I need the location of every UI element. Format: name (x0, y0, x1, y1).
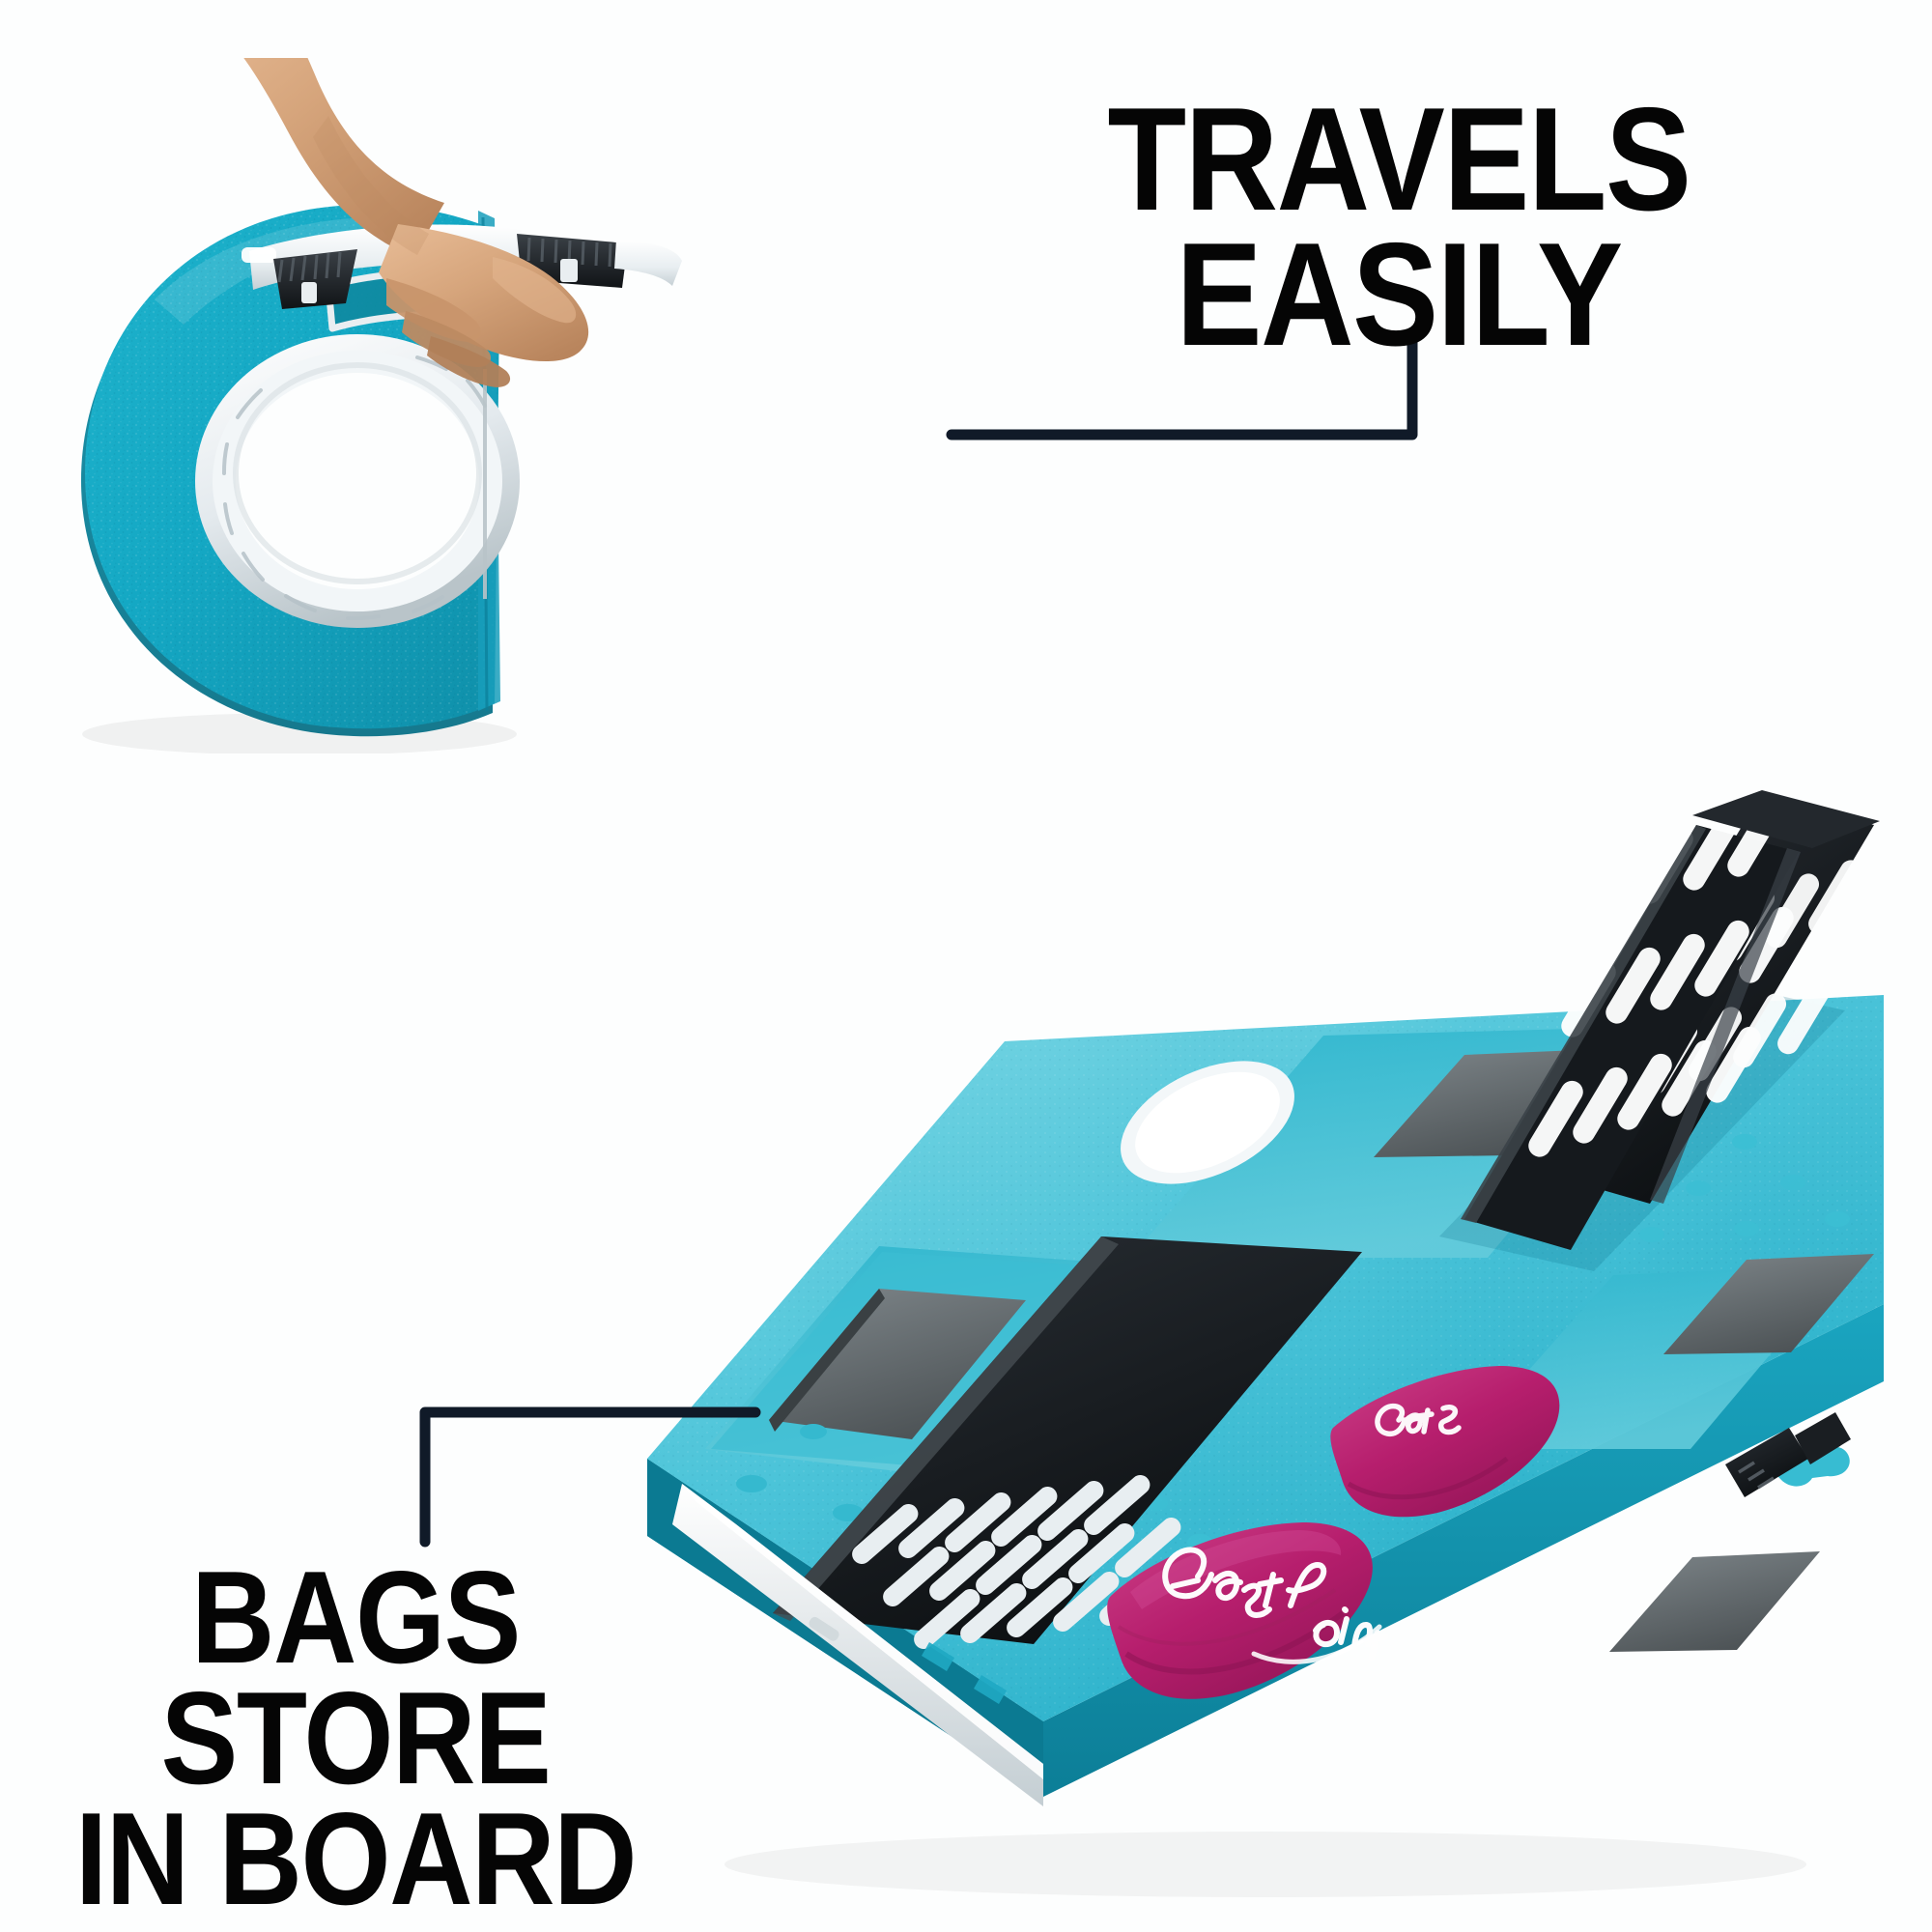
product-photo-folded-board (39, 58, 753, 753)
handle-tab (241, 247, 276, 263)
callout-heading-travels-easily: TRAVELS EASILY (991, 93, 1807, 363)
product-photo-open-board (589, 782, 1932, 1932)
feature-graphic-canvas: TRAVELS EASILY BAGS STORE IN BOARD (0, 0, 1932, 1932)
handle-rail-right (614, 240, 682, 286)
open-board-shadow (724, 1832, 1806, 1897)
callout-heading-bags-store-in-board: BAGS STORE IN BOARD (58, 1557, 653, 1919)
gray-plate-bottom (1609, 1551, 1820, 1652)
latch-clip-left (273, 249, 357, 309)
